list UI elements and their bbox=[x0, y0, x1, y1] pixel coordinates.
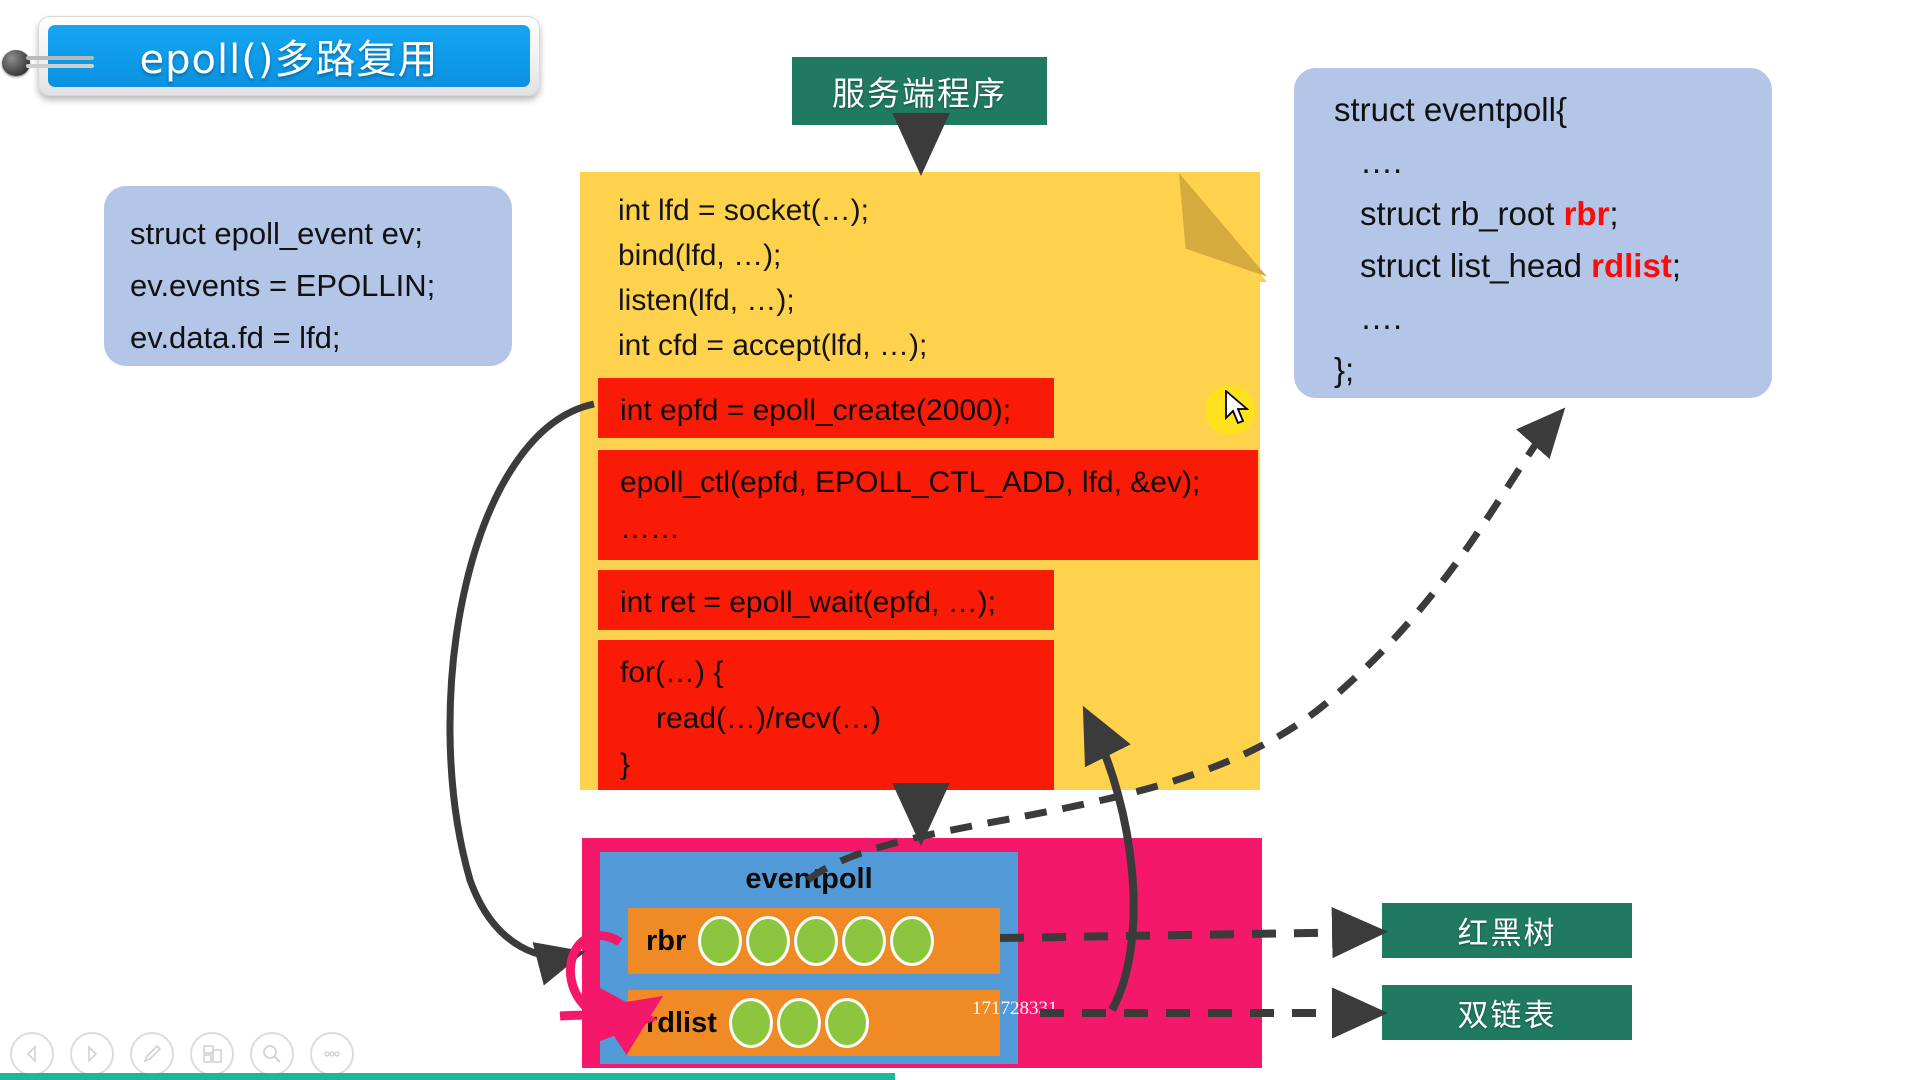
code-line: …… bbox=[620, 506, 1258, 552]
struct-rbr-name: rbr bbox=[1564, 195, 1610, 232]
title-plaque-inner: epoll()多路复用 bbox=[48, 25, 530, 87]
title-plaque: epoll()多路复用 bbox=[38, 16, 540, 96]
slide-canvas: epoll()多路复用 struct epoll_event ev; ev.ev… bbox=[0, 0, 1920, 1080]
plain-code-line-4: int cfd = accept(lfd, …); bbox=[618, 323, 1258, 368]
watermark-id: 171728331 bbox=[972, 998, 1058, 1020]
code-line: int ret = epoll_wait(epfd, …); bbox=[620, 580, 1054, 626]
struct-rdlist-prefix: struct list_head bbox=[1360, 247, 1591, 284]
eventpoll-title: eventpoll bbox=[600, 858, 1018, 900]
struct-open-line: struct eventpoll{ bbox=[1334, 84, 1772, 136]
code-line: int epfd = epoll_create(2000); bbox=[620, 388, 1054, 434]
rdlist-node bbox=[825, 998, 869, 1048]
epoll-event-line-2: ev.events = EPOLLIN; bbox=[130, 260, 486, 312]
pin-bar-lower-icon bbox=[26, 64, 94, 68]
rbr-node bbox=[890, 916, 934, 966]
struct-rbr-prefix: struct rb_root bbox=[1360, 195, 1564, 232]
page-title: epoll()多路复用 bbox=[140, 27, 439, 85]
epoll-event-line-3: ev.data.fd = lfd; bbox=[130, 312, 486, 364]
eventpoll-row-rdlist: rdlist bbox=[628, 990, 1000, 1056]
plain-code-lines: int lfd = socket(…); bind(lfd, …); liste… bbox=[618, 188, 1258, 368]
layout-icon[interactable] bbox=[190, 1032, 234, 1076]
doubly-linked-list-box: 双链表 bbox=[1382, 985, 1632, 1040]
struct-rdlist-line: struct list_head rdlist; bbox=[1334, 240, 1772, 292]
eventpoll-row-label: rbr bbox=[646, 925, 686, 958]
epoll-event-box: struct epoll_event ev; ev.events = EPOLL… bbox=[104, 186, 512, 366]
pin-knob-icon bbox=[2, 50, 30, 76]
highlight-block-epoll-wait: int ret = epoll_wait(epfd, …); bbox=[598, 570, 1054, 630]
rbr-node bbox=[746, 916, 790, 966]
code-line: epoll_ctl(epfd, EPOLL_CTL_ADD, lfd, &ev)… bbox=[620, 460, 1258, 506]
rbr-node bbox=[842, 916, 886, 966]
struct-rdlist-suffix: ; bbox=[1672, 247, 1681, 284]
struct-rdlist-name: rdlist bbox=[1591, 247, 1672, 284]
struct-rbr-line: struct rb_root rbr; bbox=[1334, 188, 1772, 240]
epoll-event-line-1: struct epoll_event ev; bbox=[130, 208, 486, 260]
doubly-linked-list-label: 双链表 bbox=[1458, 990, 1557, 1035]
eventpoll-row-label: rdlist bbox=[646, 1007, 717, 1040]
rdlist-node bbox=[777, 998, 821, 1048]
playback-toolbar[interactable] bbox=[10, 1032, 354, 1076]
highlight-block-epoll-ctl: epoll_ctl(epfd, EPOLL_CTL_ADD, lfd, &ev)… bbox=[598, 450, 1258, 560]
plain-code-line-3: listen(lfd, …); bbox=[618, 278, 1258, 323]
rdlist-node bbox=[729, 998, 773, 1048]
progress-bar[interactable] bbox=[0, 1073, 895, 1080]
plain-code-line-2: bind(lfd, …); bbox=[618, 233, 1258, 278]
struct-eventpoll-box: struct eventpoll{ …. struct rb_root rbr;… bbox=[1294, 68, 1772, 398]
code-line: read(…)/recv(…) bbox=[620, 696, 1054, 742]
arrow-epoll-create-to-eventpoll bbox=[450, 404, 594, 957]
plain-code-line-1: int lfd = socket(…); bbox=[618, 188, 1258, 233]
red-black-tree-label: 红黑树 bbox=[1458, 908, 1557, 953]
mouse-cursor-icon bbox=[1225, 390, 1251, 426]
server-program-box: 服务端程序 bbox=[792, 57, 1047, 125]
more-icon[interactable] bbox=[310, 1032, 354, 1076]
struct-close-line: }; bbox=[1334, 344, 1772, 396]
code-line: for(…) { bbox=[620, 650, 1054, 696]
pin-bar-upper-icon bbox=[26, 56, 94, 60]
rbr-node bbox=[794, 916, 838, 966]
eventpoll-row-rbr: rbr bbox=[628, 908, 1000, 974]
rbr-node bbox=[698, 916, 742, 966]
red-black-tree-box: 红黑树 bbox=[1382, 903, 1632, 958]
next-icon[interactable] bbox=[70, 1032, 114, 1076]
struct-dots-1: …. bbox=[1334, 136, 1772, 188]
struct-rbr-suffix: ; bbox=[1609, 195, 1618, 232]
zoom-icon[interactable] bbox=[250, 1032, 294, 1076]
prev-icon[interactable] bbox=[10, 1032, 54, 1076]
pen-icon[interactable] bbox=[130, 1032, 174, 1076]
highlight-block-epoll-create: int epfd = epoll_create(2000); bbox=[598, 378, 1054, 438]
highlight-block-for-loop: for(…) { read(…)/recv(…) } bbox=[598, 640, 1054, 790]
struct-dots-2: …. bbox=[1334, 292, 1772, 344]
code-line: } bbox=[620, 742, 1054, 788]
server-program-label: 服务端程序 bbox=[832, 67, 1007, 115]
